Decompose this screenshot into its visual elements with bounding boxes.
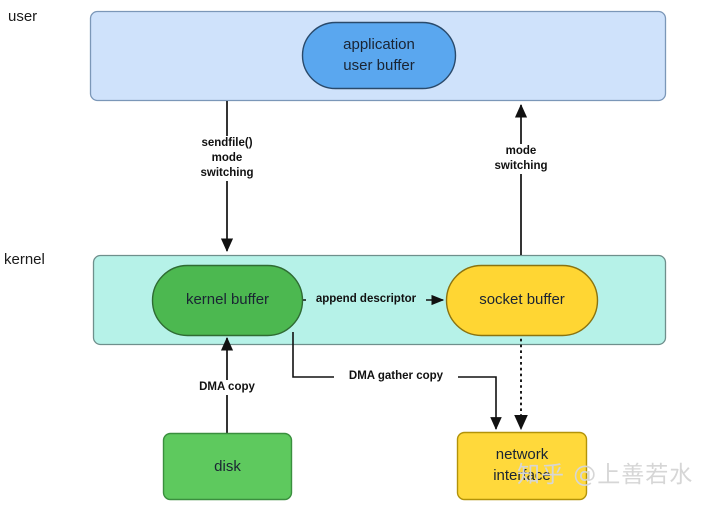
node-socket-buffer[interactable]: [447, 266, 598, 336]
edge-label-mode-switching-return: mode switching: [476, 144, 566, 174]
edge-label-sendfile-mode-switching: sendfile() mode switching: [177, 136, 277, 181]
node-application-user-buffer[interactable]: [303, 23, 456, 89]
diagram-canvas: user kernel application user buffer kern…: [0, 0, 720, 508]
node-network-interface[interactable]: [458, 433, 587, 500]
zone-label-user: user: [8, 8, 37, 25]
edge-label-append-descriptor: append descriptor: [306, 292, 426, 307]
node-kernel-buffer[interactable]: [153, 266, 303, 336]
diagram-svg-layer: [0, 0, 720, 508]
edge-label-dma-gather-copy: DMA gather copy: [334, 369, 458, 384]
zone-label-kernel: kernel: [4, 251, 45, 268]
edge-label-dma-copy: DMA copy: [182, 380, 272, 395]
node-disk[interactable]: [164, 434, 292, 500]
